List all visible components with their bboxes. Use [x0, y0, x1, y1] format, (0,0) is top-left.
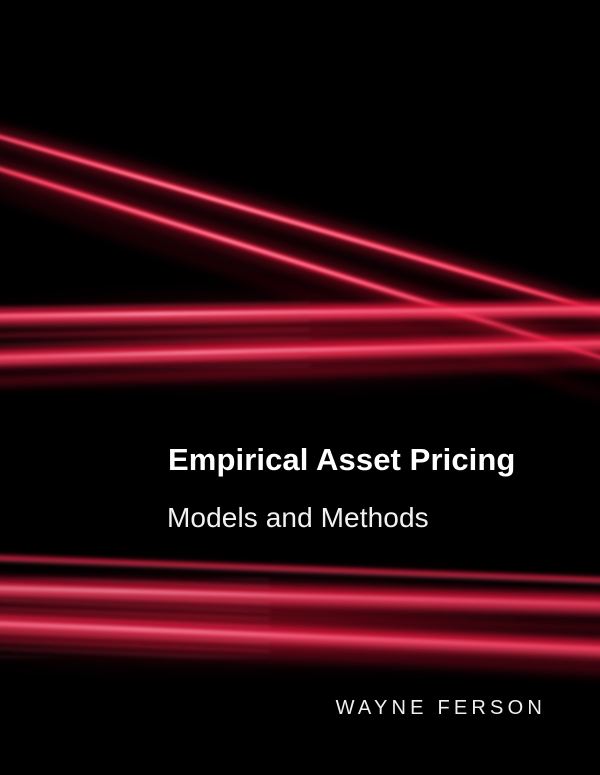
cover-text-layer: Empirical Asset Pricing Models and Metho…	[0, 0, 600, 775]
book-cover: Empirical Asset Pricing Models and Metho…	[0, 0, 600, 775]
book-subtitle: Models and Methods	[167, 503, 429, 534]
book-author: WAYNE FERSON	[336, 697, 546, 720]
book-title: Empirical Asset Pricing	[168, 443, 515, 477]
